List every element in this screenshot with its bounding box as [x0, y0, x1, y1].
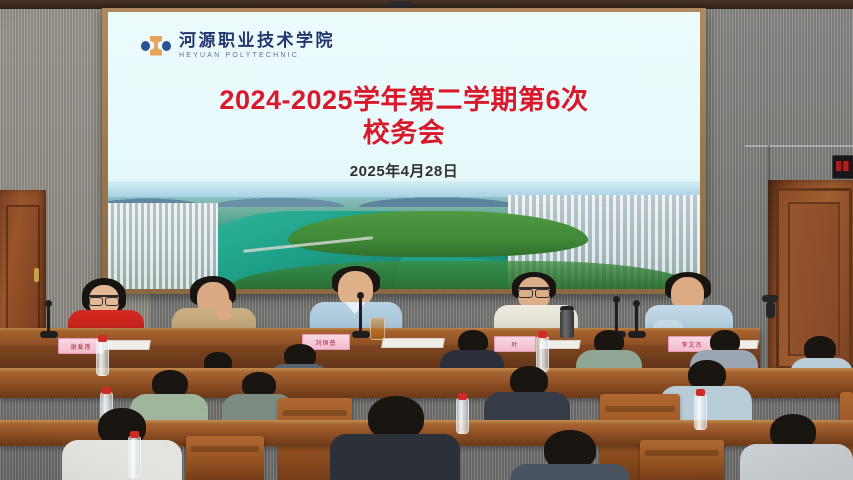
photo-green-island: [288, 211, 588, 257]
torso: [740, 444, 853, 480]
door-right-handle-bar-icon: [766, 302, 775, 318]
chair-back[interactable]: [186, 436, 264, 480]
projection-screen: 河源职业技术学院 HEYUAN POLYTECHNIC 2024-2025学年第…: [108, 12, 700, 289]
torso: [330, 434, 460, 480]
slide-logo: 河源职业技术学院 HEYUAN POLYTECHNIC: [140, 32, 335, 59]
thermos-bottle: [560, 310, 574, 338]
audience-person-row3-a: [62, 408, 182, 480]
school-name-en: HEYUAN POLYTECHNIC: [179, 52, 335, 59]
water-bottle: [96, 340, 109, 376]
door-right-panel: [788, 202, 840, 356]
documents: [381, 338, 445, 348]
water-bottle: [694, 394, 707, 430]
tea-glass: [370, 318, 385, 340]
slide-title: 2024-2025学年第二学期第6次 校务会: [108, 84, 700, 150]
wall-digital-clock: [832, 155, 853, 179]
wall-trim-horizontal: [745, 145, 853, 147]
slide-title-line2: 校务会: [108, 117, 700, 150]
audience-person-row3-b: [330, 396, 460, 480]
slide-aerial-photo: [108, 181, 700, 289]
conference-room-photo: 河源职业技术学院 HEYUAN POLYTECHNIC 2024-2025学年第…: [0, 0, 853, 480]
audience-person-row3-c: [510, 430, 630, 480]
door-left-handle-icon[interactable]: [34, 268, 39, 282]
school-emblem-icon: [140, 34, 172, 58]
chair-back[interactable]: [640, 440, 724, 480]
slide-title-line1: 2024-2025学年第二学期第6次: [108, 84, 700, 117]
torso: [510, 464, 630, 480]
clock-segment-icon: [836, 161, 851, 171]
audience-person-row2-c: [484, 366, 570, 426]
water-bottle: [128, 436, 141, 478]
audience-person-row3-d: [740, 414, 853, 480]
torso: [62, 440, 182, 480]
school-name-cn: 河源职业技术学院: [179, 32, 335, 49]
glasses-icon: [89, 295, 119, 303]
door-right-handle-icon[interactable]: [762, 295, 778, 302]
glasses-icon: [518, 287, 550, 295]
slide-date: 2025年4月28日: [108, 160, 700, 181]
arm: [216, 298, 232, 320]
